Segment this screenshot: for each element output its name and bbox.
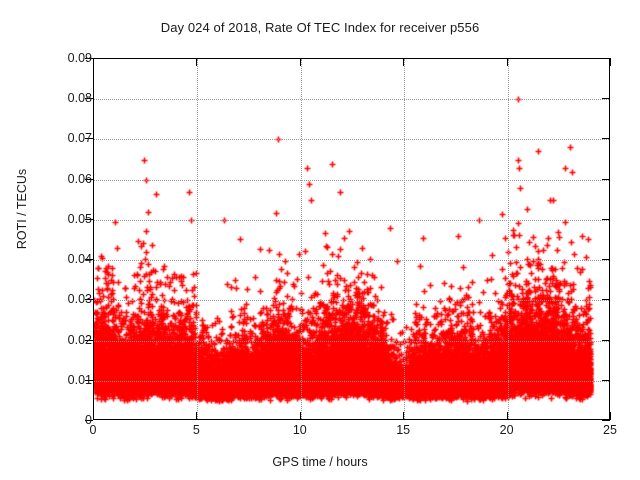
x-axis-tick bbox=[93, 412, 94, 420]
x-axis-tick-label: 15 bbox=[383, 424, 423, 437]
gridline-horizontal bbox=[94, 99, 609, 100]
gridline-vertical bbox=[404, 59, 405, 419]
x-axis-tick bbox=[196, 412, 197, 420]
y-axis-tick-right bbox=[602, 420, 610, 421]
y-axis-tick-label: 0.05 bbox=[32, 213, 92, 226]
x-axis-label: GPS time / hours bbox=[0, 455, 640, 469]
x-axis-tick-label: 20 bbox=[487, 424, 527, 437]
y-axis-tick-label: 0.02 bbox=[32, 334, 92, 347]
gridline-horizontal bbox=[94, 180, 609, 181]
y-axis-tick-label: 0.06 bbox=[32, 173, 92, 186]
x-axis-tick-top bbox=[300, 58, 301, 66]
gridline-horizontal bbox=[94, 300, 609, 301]
x-axis-tick-top bbox=[403, 58, 404, 66]
x-axis-tick-top bbox=[196, 58, 197, 66]
y-axis-tick-right bbox=[602, 340, 610, 341]
plot-area bbox=[93, 58, 610, 420]
gridline-horizontal bbox=[94, 260, 609, 261]
chart-figure: Day 024 of 2018, Rate Of TEC Index for r… bbox=[0, 0, 640, 480]
x-axis-tick bbox=[507, 412, 508, 420]
y-axis-tick-right bbox=[602, 380, 610, 381]
y-axis-tick-right bbox=[602, 259, 610, 260]
gridline-horizontal bbox=[94, 220, 609, 221]
y-axis-tick-right bbox=[602, 179, 610, 180]
x-axis-tick bbox=[610, 412, 611, 420]
y-axis-tick-right bbox=[602, 98, 610, 99]
y-axis-tick-right bbox=[602, 299, 610, 300]
gridline-vertical bbox=[301, 59, 302, 419]
gridline-horizontal bbox=[94, 139, 609, 140]
y-axis-tick-label: 0.07 bbox=[32, 132, 92, 145]
x-axis-tick-top bbox=[507, 58, 508, 66]
x-axis-tick bbox=[403, 412, 404, 420]
y-axis-tick-right bbox=[602, 58, 610, 59]
scatter-plot-canvas bbox=[94, 59, 610, 420]
x-axis-tick-top bbox=[610, 58, 611, 66]
y-axis-tick-right bbox=[602, 219, 610, 220]
y-axis-tick-label: 0.08 bbox=[32, 92, 92, 105]
gridline-horizontal bbox=[94, 381, 609, 382]
y-axis-tick-label: 0.03 bbox=[32, 293, 92, 306]
x-axis-tick-top bbox=[93, 58, 94, 66]
y-axis-label: ROTI / TECUs bbox=[15, 139, 29, 279]
gridline-vertical bbox=[197, 59, 198, 419]
y-axis-tick-label: 0.09 bbox=[32, 52, 92, 65]
x-axis-tick-label: 5 bbox=[176, 424, 216, 437]
y-axis-tick-label: 0.01 bbox=[32, 374, 92, 387]
x-axis-tick-label: 25 bbox=[590, 424, 630, 437]
gridline-vertical bbox=[508, 59, 509, 419]
x-axis-tick-label: 0 bbox=[73, 424, 113, 437]
x-axis-tick bbox=[300, 412, 301, 420]
y-axis-tick-label: 0.04 bbox=[32, 253, 92, 266]
gridline-horizontal bbox=[94, 341, 609, 342]
x-axis-tick-label: 10 bbox=[280, 424, 320, 437]
page-title: Day 024 of 2018, Rate Of TEC Index for r… bbox=[0, 20, 640, 35]
y-axis-tick-right bbox=[602, 138, 610, 139]
